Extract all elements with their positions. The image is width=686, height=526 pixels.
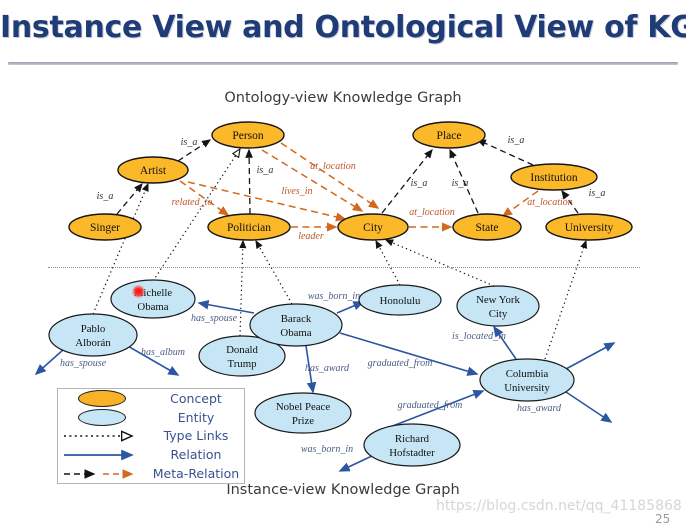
edge-label-is-a: is_a — [257, 165, 274, 176]
instance-node-label-line1: Nobel Peace — [276, 401, 330, 413]
edge-label-is-a: is_a — [181, 137, 198, 148]
ontology-node-institution[interactable]: Institution — [511, 164, 597, 190]
instance-node-label-line2: Obama — [137, 301, 168, 313]
ontology-node-artist[interactable]: Artist — [118, 157, 188, 183]
ontology-node-label: Institution — [530, 172, 578, 184]
edge-label-related-to: related_to — [172, 197, 213, 208]
edge-label-graduated-from: graduated_from — [368, 358, 433, 369]
ontology-node-label: Singer — [90, 222, 120, 234]
relation-barack-honolulu-was-born-in — [337, 302, 363, 313]
instance-node-label-line2: University — [504, 382, 550, 394]
ontology-node-label: Artist — [140, 165, 167, 177]
relation-barack-michelle-has-spouse — [199, 303, 254, 313]
edge-label-has-album: has_album — [141, 347, 185, 358]
ontology-node-place[interactable]: Place — [413, 122, 485, 148]
instance-node-nobel-peace-prize[interactable]: Nobel Peace Prize — [255, 393, 351, 433]
type-link-barack-politician — [256, 241, 292, 304]
instance-node-columbia-university[interactable]: Columbia University — [480, 359, 574, 401]
isa-politician-person — [249, 150, 250, 214]
page-number: 25 — [655, 512, 670, 526]
instance-node-richard-hofstadter[interactable]: Richard Hofstadter — [364, 424, 460, 466]
edge-label-has-spouse: has_spouse — [191, 313, 238, 324]
dotted-arrow-icon — [62, 430, 142, 442]
edge-label-at-location: at_location — [409, 207, 455, 218]
ontology-node-label: City — [363, 222, 383, 234]
instance-node-new-york-city[interactable]: New York City — [457, 286, 539, 326]
ontology-node-label: Place — [437, 130, 462, 142]
slide-canvas: Instance View and Ontological View of KG… — [0, 0, 686, 526]
relation-columbia-has-award — [566, 392, 611, 422]
meta-person-city-lives-in — [262, 150, 362, 211]
ontology-node-label: Politician — [227, 222, 271, 234]
laser-pointer-dot — [132, 285, 145, 298]
watermark-url: https://blog.csdn.net/qq_41185868 — [436, 498, 682, 514]
legend-label-meta-relation: Meta-Relation — [146, 466, 246, 481]
entity-ellipse — [457, 286, 539, 326]
edge-label-at-location: at_location — [527, 197, 573, 208]
instance-node-michelle-obama[interactable]: Michelle Obama — [111, 280, 195, 318]
edge-label-at-location: at_location — [310, 161, 356, 172]
instance-node-label-line2: Alborán — [75, 337, 111, 349]
edge-label-is-a: is_a — [508, 135, 525, 146]
legend-box: Concept Entity Type Links — [57, 388, 245, 484]
ontology-node-label: State — [476, 222, 499, 234]
instance-node-pablo-alboran[interactable]: Pablo Alborán — [49, 314, 137, 356]
instance-node-label-line1: Pablo — [81, 323, 106, 335]
instance-node-label-line2: Obama — [280, 327, 311, 339]
edge-label-has-spouse: has_spouse — [60, 358, 107, 369]
relation-richard-was-born-in — [340, 455, 374, 471]
entity-ellipse — [49, 314, 137, 356]
edge-label-is-a: is_a — [97, 191, 114, 202]
instance-node-label-line2: Trump — [227, 358, 256, 370]
edge-label-is-a: is_a — [452, 178, 469, 189]
meta-person-city-at-location — [281, 143, 378, 208]
solid-blue-arrow-icon — [62, 449, 142, 461]
edge-label-was-born-in: was_born_in — [301, 444, 353, 455]
entity-ellipse — [255, 393, 351, 433]
edge-label-is-a: is_a — [411, 178, 428, 189]
legend-symbol-relation — [58, 445, 146, 464]
edge-label-was-born-in: was_born_in — [308, 291, 360, 302]
entity-ellipse — [250, 304, 342, 346]
ontology-node-university[interactable]: University — [546, 214, 632, 240]
legend-symbol-entity — [58, 408, 146, 427]
edge-label-is-a: is_a — [589, 188, 606, 199]
ontology-node-city[interactable]: City — [338, 214, 408, 240]
type-link-columbia-university — [545, 241, 586, 359]
legend-label-relation: Relation — [146, 447, 246, 462]
legend-symbol-meta-relation — [58, 464, 146, 483]
entity-ellipse — [480, 359, 574, 401]
edge-label-has-award: has_award — [305, 363, 350, 374]
ontology-node-group: Person Artist Singer Politician City Sta… — [69, 122, 632, 240]
edge-label-has-award: has_award — [517, 403, 562, 414]
dashed-arrows-icon — [62, 468, 142, 480]
instance-node-label-line2: City — [489, 308, 508, 320]
instance-node-barack-obama[interactable]: Barack Obama — [250, 304, 342, 346]
legend-label-type-links: Type Links — [146, 428, 246, 443]
concept-ellipse-icon — [78, 390, 126, 407]
ontology-node-label: University — [565, 222, 614, 234]
instance-node-label-line1: New York — [476, 294, 520, 306]
instance-node-label-line1: Donald — [226, 344, 258, 356]
edge-label-lives-in: lives_in — [281, 186, 312, 197]
ontology-node-person[interactable]: Person — [212, 122, 284, 148]
edge-label-is-located-in: is_located_in — [452, 331, 506, 342]
instance-node-label-line1: Richard — [395, 433, 430, 445]
relation-columbia-out-upper — [566, 343, 614, 369]
ontology-node-politician[interactable]: Politician — [208, 214, 290, 240]
type-link-honolulu-city — [376, 241, 400, 285]
ontology-node-state[interactable]: State — [453, 214, 521, 240]
legend-symbol-type-links — [58, 427, 146, 446]
instance-node-label-line2: Prize — [292, 415, 314, 427]
ontology-node-label: Person — [232, 130, 264, 142]
ontology-node-singer[interactable]: Singer — [69, 214, 141, 240]
view-separator-line — [48, 267, 640, 268]
instance-node-label-line1: Columbia — [506, 368, 549, 380]
legend-label-concept: Concept — [146, 391, 246, 406]
type-link-donald-politician — [240, 241, 243, 336]
legend-symbol-concept — [58, 389, 146, 408]
instance-node-label-line1: Honolulu — [380, 295, 421, 307]
instance-node-label-line2: Hofstadter — [389, 447, 435, 459]
legend-label-entity: Entity — [146, 410, 246, 425]
entity-ellipse — [364, 424, 460, 466]
edge-label-graduated-from: graduated_from — [398, 400, 463, 411]
isa-institution-place — [478, 140, 533, 165]
entity-ellipse-icon — [78, 409, 126, 426]
instance-node-honolulu[interactable]: Honolulu — [359, 285, 441, 315]
isa-singer-artist — [117, 184, 142, 214]
instance-node-label-line1: Barack — [281, 313, 312, 325]
type-link-nyc-city — [386, 240, 494, 286]
edge-label-leader: leader — [298, 231, 324, 242]
